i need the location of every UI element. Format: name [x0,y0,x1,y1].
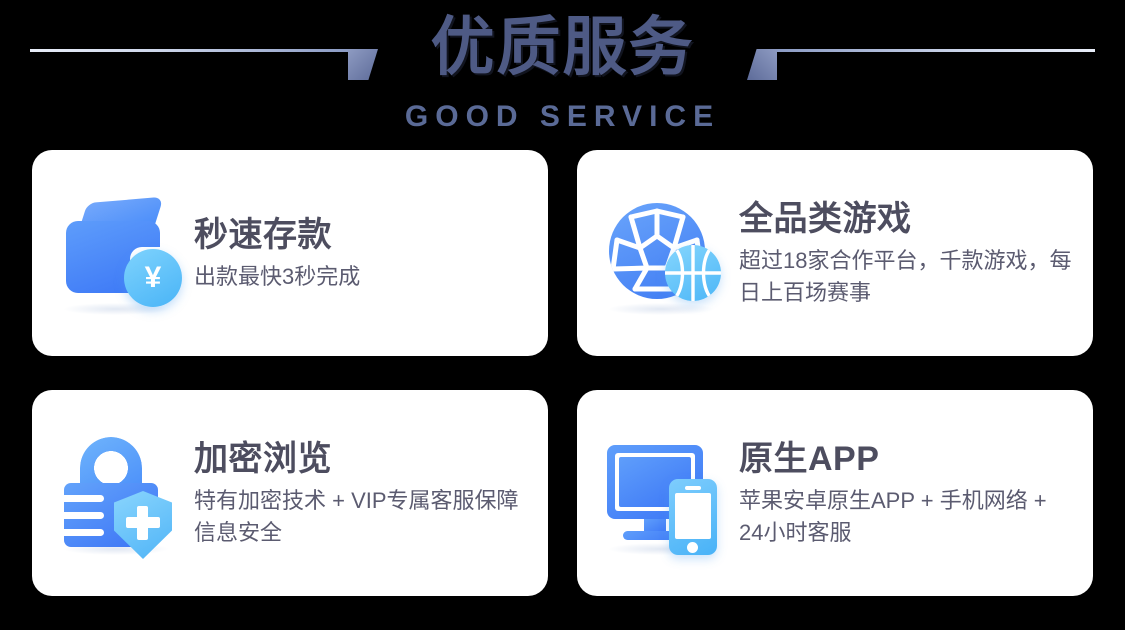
basketball-icon [665,245,721,301]
phone-home-button-shape [687,542,698,553]
feature-card-subtitle: 超过18家合作平台，千款游戏，每日上百场赛事 [739,245,1079,309]
feature-card-title: 加密浏览 [194,438,524,480]
feature-card-subtitle: 特有加密技术 + VIP专属客服保障信息安全 [194,485,524,549]
page-subtitle: GOOD SERVICE [0,100,1125,134]
page-header: 优质服务 GOOD SERVICE [0,0,1125,148]
feature-card-text: 秒速存款 出款最快3秒完成 [186,214,370,293]
feature-card-subtitle: 苹果安卓原生APP + 手机网络 + 24小时客服 [739,485,1069,549]
page-root: 优质服务 GOOD SERVICE ¥ 秒速存款 出款最快3秒完成 [0,0,1125,630]
yen-symbol: ¥ [124,249,182,307]
feature-card-title: 全品类游戏 [739,198,1079,240]
monitor-phone-icon [603,429,731,557]
soccer-basketball-icon [603,189,731,317]
feature-card-subtitle: 出款最快3秒完成 [194,261,360,293]
lock-slot-shape [64,495,104,502]
phone-screen-shape [675,493,711,539]
lock-shield-icon [58,429,186,557]
feature-card-text: 原生APP 苹果安卓原生APP + 手机网络 + 24小时客服 [731,438,1079,549]
phone-speaker-shape [685,486,701,490]
plus-icon [137,506,148,540]
feature-card-title: 秒速存款 [194,214,360,256]
icon-shadow [609,303,713,315]
feature-card-deposit[interactable]: ¥ 秒速存款 出款最快3秒完成 [32,150,548,356]
page-title: 优质服务 [0,12,1125,82]
feature-card-text: 加密浏览 特有加密技术 + VIP专属客服保障信息安全 [186,438,534,549]
lock-slot-shape [64,529,104,536]
lock-slot-shape [64,512,104,519]
wallet-icon: ¥ [58,189,186,317]
feature-card-grid: ¥ 秒速存款 出款最快3秒完成 [32,150,1093,596]
feature-card-encryption[interactable]: 加密浏览 特有加密技术 + VIP专属客服保障信息安全 [32,390,548,596]
feature-card-native-app[interactable]: 原生APP 苹果安卓原生APP + 手机网络 + 24小时客服 [577,390,1093,596]
feature-card-games[interactable]: 全品类游戏 超过18家合作平台，千款游戏，每日上百场赛事 [577,150,1093,356]
feature-card-title: 原生APP [739,438,1069,480]
feature-card-text: 全品类游戏 超过18家合作平台，千款游戏，每日上百场赛事 [731,198,1089,309]
